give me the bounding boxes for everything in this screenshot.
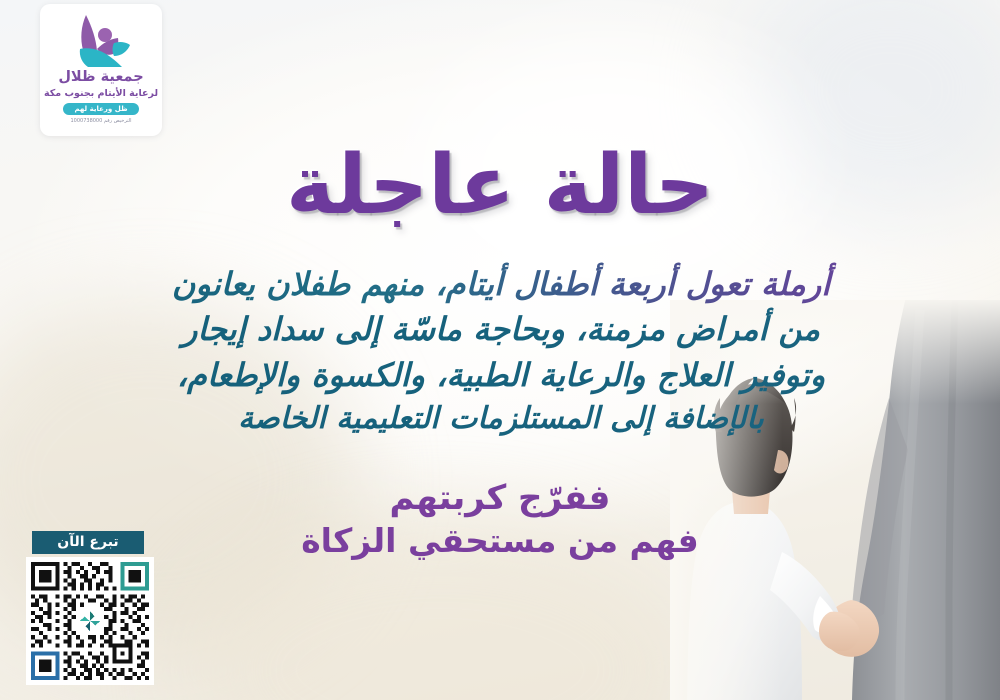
case-description-line: وتوفير العلاج والرعاية الطبية، والكسوة و… (78, 353, 924, 398)
page-title: حالة عاجلة (0, 140, 1000, 232)
case-description-line: أرملة تعول أربعة أطفال أيتام، منهم طفلان… (78, 262, 924, 307)
logo-org-name: جمعية ظلال (58, 70, 143, 86)
case-description-line: بالإضافة إلى المستلزمات التعليمية الخاصة (78, 398, 924, 441)
logo-org-subtitle: لرعاية الأيتام بجنوب مكة (44, 88, 158, 99)
case-description-line: من أمراض مزمنة، وبحاجة ماسّة إلى سداد إي… (78, 307, 924, 352)
logo-slogan-badge: ظل ورعاية لهم (63, 103, 138, 115)
person-figure-logo-icon (70, 13, 132, 67)
closing-appeal-line-1: ففرّج كربتهم (0, 476, 1000, 520)
case-description: أرملة تعول أربعة أطفال أيتام، منهم طفلان… (78, 262, 924, 441)
donate-now-label[interactable]: تبرع الآن (32, 531, 144, 554)
logo-registration-number: الترخيص رقم 1000738000 (70, 118, 131, 124)
organization-logo-card: جمعية ظلال لرعاية الأيتام بجنوب مكة ظل و… (40, 4, 162, 136)
qr-code-icon[interactable] (26, 557, 154, 685)
poster-canvas: جمعية ظلال لرعاية الأيتام بجنوب مكة ظل و… (0, 0, 1000, 700)
donate-block[interactable]: تبرع الآن (22, 531, 154, 685)
